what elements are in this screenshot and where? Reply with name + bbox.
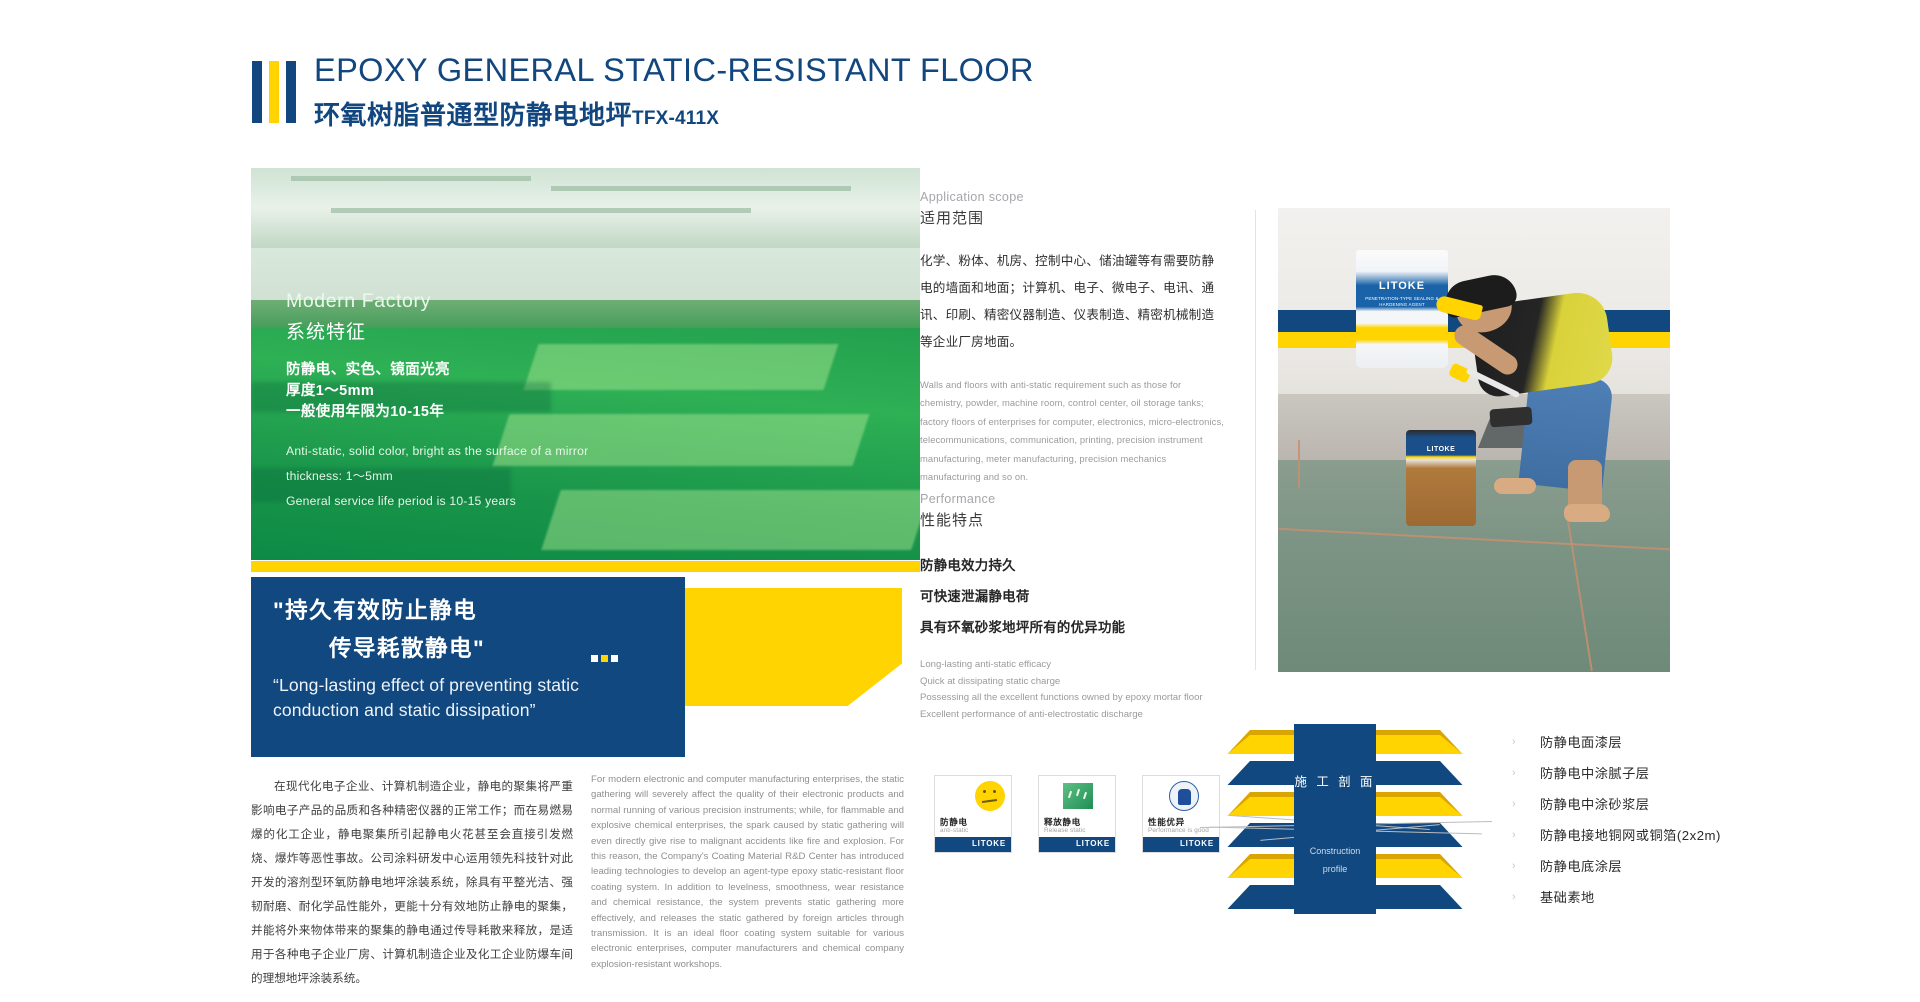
legend-item: ›防静电面漆层 <box>1512 732 1622 752</box>
quote-english: “Long-lasting effect of preventing stati… <box>273 673 613 723</box>
application-label-chinese: 适用范围 <box>920 207 1225 228</box>
legend-label: 防静电面漆层 <box>1540 732 1622 751</box>
performance-label-english: Performance <box>920 492 1225 506</box>
diagram-center-english-line1: Construction <box>1294 846 1376 856</box>
thumbs-up-icon <box>1169 781 1199 811</box>
card-label-english: Release static <box>1044 827 1086 834</box>
brand-name: LITOKE <box>1180 839 1214 848</box>
hero-features-english: Anti-static, solid color, bright as the … <box>286 439 588 514</box>
page-title-chinese: 环氧树脂普通型防静电地坪 <box>314 100 632 130</box>
brand-name: LITOKE <box>972 839 1006 848</box>
legend-label: 防静电底涂层 <box>1540 856 1622 875</box>
application-label-english: Application scope <box>920 190 1225 204</box>
column-divider <box>1255 210 1256 670</box>
performance-label-chinese: 性能特点 <box>920 509 1225 530</box>
legend-item: ›防静电中涂砂浆层 <box>1512 794 1650 814</box>
arrow-icon: › <box>1512 860 1540 872</box>
brand-bars-icon <box>252 61 296 123</box>
hero-features-chinese: 防静电、实色、镜面光亮 厚度1～5mm 一般使用年限为10-15年 <box>286 360 588 423</box>
hero-heading-english: Modern Factory <box>286 290 588 313</box>
arrow-icon: › <box>1512 798 1540 810</box>
performance-point-en: Possessing all the excellent functions o… <box>920 690 1225 707</box>
diagram-center-column: 施 工 剖 面 Construction profile <box>1294 724 1376 914</box>
card-icon-wrap <box>935 781 1011 815</box>
paint-can: LITOKE <box>1406 430 1476 526</box>
worker-foot <box>1564 504 1610 522</box>
description-chinese: 在现代化电子企业、计算机制造企业，静电的聚集将严重影响电子产品的品质和各种精密仪… <box>251 775 573 991</box>
quote-chinese-line1: "持久有效防止静电 <box>273 593 477 625</box>
legend-item: ›防静电中涂腻子层 <box>1512 763 1650 783</box>
diagram-center-chinese: 施 工 剖 面 <box>1294 772 1376 790</box>
quote-panel: "持久有效防止静电 传导耗散静电" “Long-lasting effect o… <box>251 577 685 757</box>
performance-point-cn: 可快速泄漏静电荷 <box>920 581 1225 612</box>
performance-point-cn: 防静电效力持久 <box>920 550 1225 581</box>
green-sparkle-icon <box>1063 783 1093 809</box>
diagram-legend: ›防静电面漆层 ›防静电中涂腻子层 ›防静电中涂砂浆层 ›防静电接地铜网或铜箔(… <box>1512 730 1872 915</box>
photo-light-reflection <box>541 490 920 550</box>
hero-heading-chinese: 系统特征 <box>286 317 588 344</box>
legend-label: 防静电接地铜网或铜箔(2x2m) <box>1540 825 1721 844</box>
application-body-chinese: 化学、粉体、机房、控制中心、储油罐等有需要防静电的墙面和地面；计算机、电子、微电… <box>920 248 1225 356</box>
card-icon-wrap <box>1039 781 1115 815</box>
photo-ceiling-beam <box>331 208 751 213</box>
photo-ceiling-beam <box>551 186 851 191</box>
page-header: EPOXY GENERAL STATIC-RESISTANT FLOOR 环氧树… <box>252 52 1112 134</box>
legend-item: ›基础素地 <box>1512 887 1595 907</box>
page-title-chinese-wrap: 环氧树脂普通型防静电地坪TFX-411X <box>314 95 719 132</box>
card-brand-footer: LITOKE <box>1143 837 1219 852</box>
legend-item: ›防静电接地铜网或铜箔(2x2m) <box>1512 825 1721 845</box>
bucket-product-text: PENETRATION-TYPE SEALING & HARDENING AGE… <box>1356 296 1448 308</box>
smiley-face-icon <box>975 781 1005 811</box>
arrow-icon: › <box>1512 891 1540 903</box>
photo-overlay-text: Modern Factory 系统特征 防静电、实色、镜面光亮 厚度1～5mm … <box>286 290 588 514</box>
performance-points-chinese: 防静电效力持久 可快速泄漏静电荷 具有环氧砂浆地坪所有的优异功能 <box>920 550 1225 643</box>
product-bucket-poster: LITOKE PENETRATION-TYPE SEALING & HARDEN… <box>1356 250 1448 368</box>
feature-card-release-static[interactable]: 释放静电 Release static LITOKE <box>1038 775 1116 853</box>
quote-dots-icon <box>591 655 618 662</box>
legend-label: 防静电中涂砂浆层 <box>1540 794 1650 813</box>
diagram-center-english-line2: profile <box>1294 864 1376 874</box>
hero-feature-cn: 一般使用年限为10-15年 <box>286 402 588 423</box>
hero-feature-cn: 厚度1～5mm <box>286 381 588 402</box>
hero-feature-cn: 防静电、实色、镜面光亮 <box>286 360 588 381</box>
hero-feature-en: General service life period is 10-15 yea… <box>286 489 588 514</box>
arrow-icon: › <box>1512 736 1540 748</box>
quote-chinese-line2: 传导耗散静电" <box>329 631 485 663</box>
legend-label: 防静电中涂腻子层 <box>1540 763 1650 782</box>
bucket-brand-label: LITOKE <box>1356 280 1448 292</box>
performance-point-en: Excellent performance of anti-electrosta… <box>920 707 1225 724</box>
legend-label: 基础素地 <box>1540 887 1595 906</box>
legend-item: ›防静电底涂层 <box>1512 856 1622 876</box>
construction-profile-diagram: 施 工 剖 面 Construction profile ›防静电面漆层 ›防静… <box>1220 730 1880 930</box>
performance-point-cn: 具有环氧砂浆地坪所有的优异功能 <box>920 612 1225 643</box>
card-icon-wrap <box>1143 781 1219 815</box>
arrow-icon: › <box>1512 767 1540 779</box>
feature-card-performance[interactable]: 性能优异 Performance is good LITOKE <box>1142 775 1220 853</box>
performance-section: Performance 性能特点 防静电效力持久 可快速泄漏静电荷 具有环氧砂浆… <box>920 492 1225 723</box>
paint-roller <box>1489 407 1532 428</box>
feature-card-anti-static[interactable]: 防静电 anti-static LITOKE <box>934 775 1012 853</box>
yellow-divider-band <box>251 561 920 572</box>
factory-floor-photo: Modern Factory 系统特征 防静电、实色、镜面光亮 厚度1～5mm … <box>251 168 920 560</box>
description-english: For modern electronic and computer manuf… <box>591 772 904 972</box>
poster-page: EPOXY GENERAL STATIC-RESISTANT FLOOR 环氧树… <box>0 0 1920 1002</box>
diagram-layers: 施 工 剖 面 Construction profile <box>1220 730 1470 915</box>
photo-floor-joint <box>1298 440 1300 488</box>
brand-name: LITOKE <box>1076 839 1110 848</box>
performance-point-en: Long-lasting anti-static efficacy <box>920 657 1225 674</box>
arrow-icon: › <box>1512 829 1540 841</box>
performance-points-english: Long-lasting anti-static efficacy Quick … <box>920 657 1225 723</box>
worker-foot <box>1494 478 1536 494</box>
product-code: TFX-411X <box>632 108 719 129</box>
page-title-english: EPOXY GENERAL STATIC-RESISTANT FLOOR <box>314 52 1034 89</box>
photo-ceiling-beam <box>291 176 531 181</box>
performance-point-en: Quick at dissipating static charge <box>920 674 1225 691</box>
card-brand-footer: LITOKE <box>1039 837 1115 852</box>
card-brand-footer: LITOKE <box>935 837 1011 852</box>
feature-cards: 防静电 anti-static LITOKE 释放静电 Release stat… <box>934 775 1220 853</box>
paint-can-brand: LITOKE <box>1406 446 1476 453</box>
hero-feature-en: Anti-static, solid color, bright as the … <box>286 439 588 464</box>
card-label-english: anti-static <box>940 827 968 834</box>
application-body-english: Walls and floors with anti-static requir… <box>920 376 1225 486</box>
worker-coating-photo: LITOKE PENETRATION-TYPE SEALING & HARDEN… <box>1278 208 1670 672</box>
application-scope-section: Application scope 适用范围 化学、粉体、机房、控制中心、储油罐… <box>920 190 1225 486</box>
hero-feature-en: thickness: 1～5mm <box>286 464 588 489</box>
